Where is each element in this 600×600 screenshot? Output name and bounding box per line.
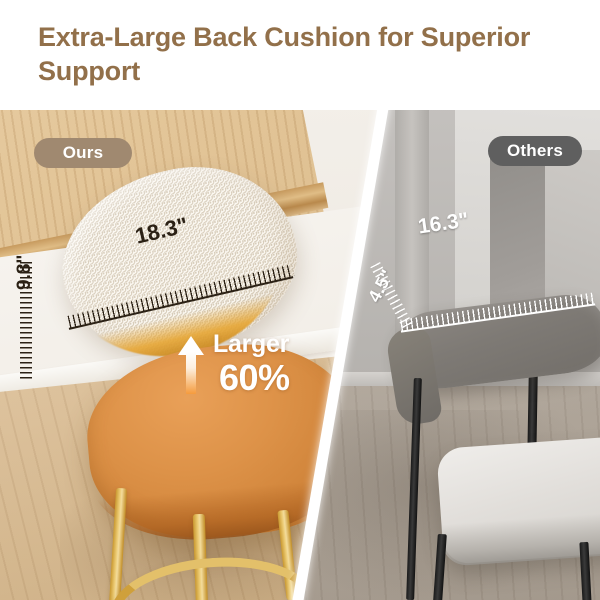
header-banner: Extra-Large Back Cushion for Superior Su… <box>0 0 600 110</box>
page-title: Extra-Large Back Cushion for Superior Su… <box>38 20 558 88</box>
badge-others: Others <box>488 136 582 166</box>
measure-height-ours: 9.8" <box>14 255 36 290</box>
badge-ours: Ours <box>34 138 132 168</box>
product-comparison-image: Extra-Large Back Cushion for Superior Su… <box>0 0 600 600</box>
larger-callout-text: Larger 60% <box>213 332 290 396</box>
arrow-up-shaft <box>186 352 196 394</box>
larger-callout: Larger 60% <box>178 332 290 396</box>
larger-label: Larger <box>213 332 290 357</box>
larger-percent: 60% <box>219 360 290 396</box>
comparison-stage: Ours Others 18.3" 9.8" 16.3" 4.5" Larger… <box>0 110 600 600</box>
arrow-up-icon <box>178 336 204 394</box>
